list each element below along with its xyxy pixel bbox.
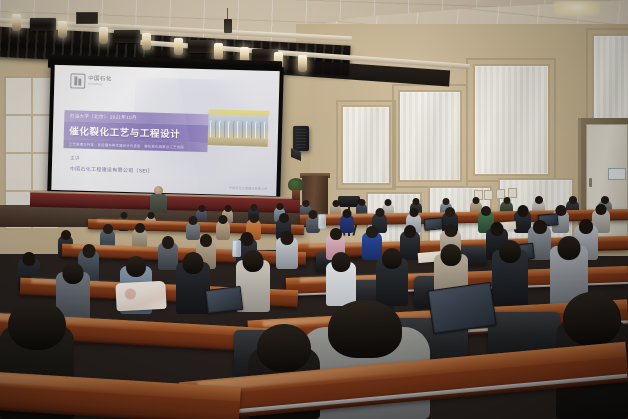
track-light-fixture: [30, 18, 56, 31]
projection-screen: 中国石化 SINOPEC 石油大学（北京）· 2021年10月 催化裂化工艺与工…: [47, 61, 284, 200]
sinopec-logo: 中国石化 SINOPEC: [70, 73, 112, 89]
seated-student: [326, 252, 356, 306]
seated-student: [176, 252, 210, 314]
track-spotlight: [142, 33, 151, 50]
logo-subtext: SINOPEC: [88, 82, 112, 86]
slide-subtitle: 工艺原理与开发 · 反应器与再生器设计与选型 · 催化裂化装置总工艺流程: [64, 141, 184, 149]
track-spotlight: [12, 14, 21, 31]
track-spotlight: [214, 43, 223, 60]
wall-mounted-loudspeaker: [293, 126, 309, 151]
slide-title: 催化裂化工艺与工程设计: [64, 123, 180, 140]
presenter-standing: [150, 186, 167, 212]
slide-eyebrow: 石油大学（北京）· 2021年10月: [65, 113, 137, 121]
seated-student: [132, 223, 147, 249]
track-spotlight: [99, 27, 108, 44]
acoustic-wall-panel: [398, 90, 462, 182]
slide-author-label: 主讲: [70, 155, 80, 161]
sinopec-mark-icon: [70, 73, 85, 88]
wall-power-outlet: [484, 190, 493, 200]
lecture-hall-photo: 中国石化 SINOPEC 石油大学（北京）· 2021年10月 催化裂化工艺与工…: [0, 0, 628, 419]
acoustic-wall-panel: [341, 105, 391, 185]
track-light-fixture: [188, 40, 214, 53]
ceiling-mount-bracket: [76, 12, 98, 24]
laptop[interactable]: [427, 282, 497, 334]
slide-organization: 中国石化工程建设有限公司（SEI）: [70, 165, 153, 174]
water-bottle: [318, 214, 326, 229]
track-spotlight: [58, 21, 67, 38]
pendant-light: [224, 19, 232, 33]
seated-student: [216, 215, 230, 239]
ceiling-light-glow: [554, 1, 600, 16]
acoustic-wall-panel: [473, 64, 550, 176]
track-spotlight: [298, 55, 307, 72]
track-light-fixture: [114, 30, 140, 43]
lecture-desk: [0, 369, 241, 419]
potted-plant: [288, 178, 304, 200]
seated-student: [276, 231, 298, 269]
track-spotlight: [174, 38, 183, 55]
seated-student: [492, 240, 528, 306]
laptop[interactable]: [205, 286, 244, 314]
refinery-photo: [206, 112, 270, 148]
seated-student: [376, 248, 408, 306]
door-handle[interactable]: [589, 178, 592, 187]
seated-student: [158, 236, 178, 270]
slide-footer: 中国石化工程建设有限公司: [229, 186, 268, 191]
exit-sign: [608, 168, 626, 180]
white-tote-bag: [115, 281, 166, 312]
